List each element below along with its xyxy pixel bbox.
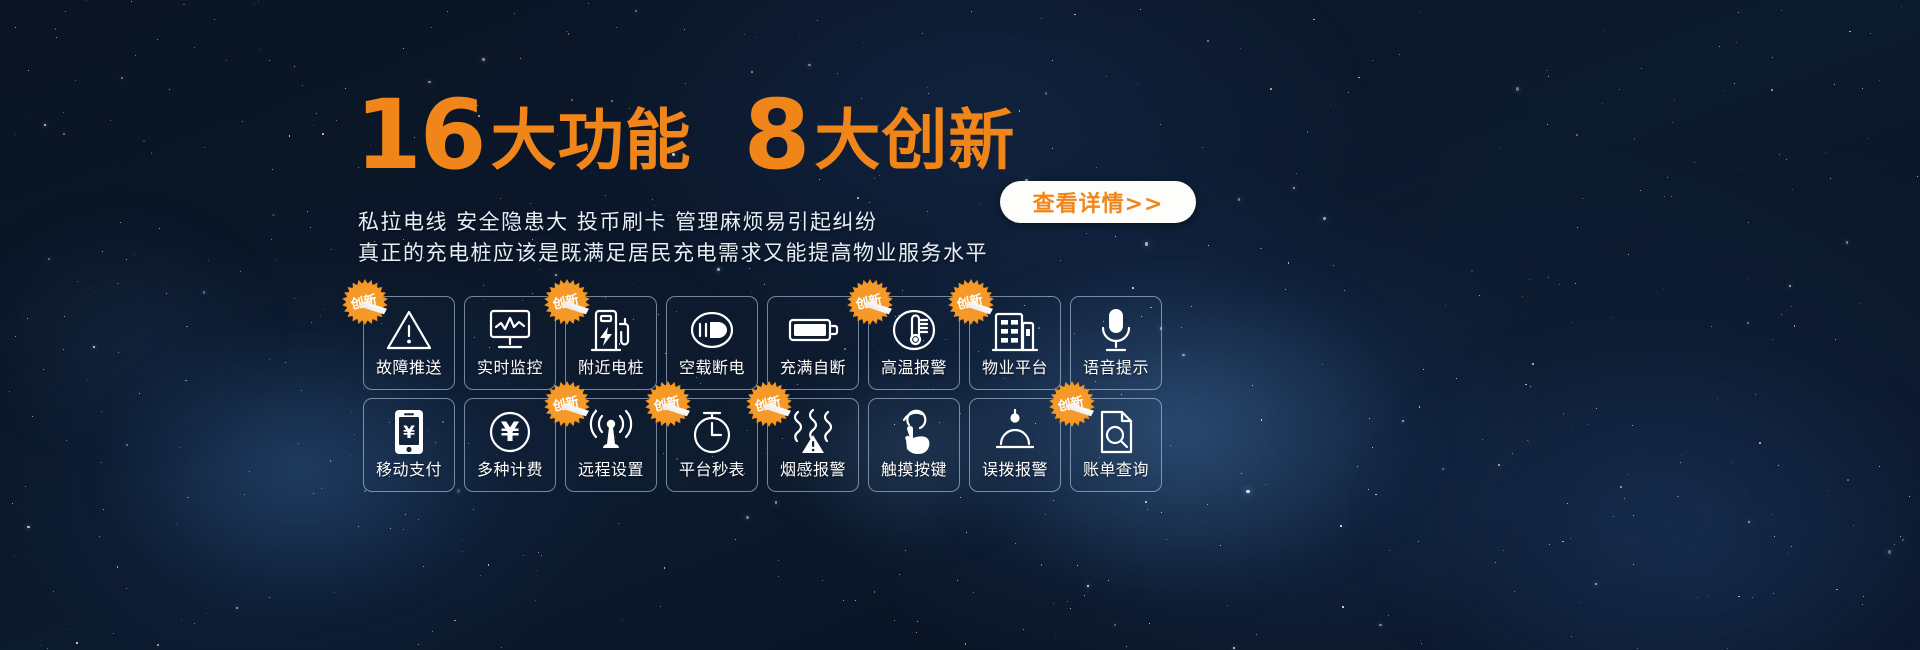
- feature-label: 多种计费: [477, 461, 543, 479]
- building-icon: [970, 301, 1060, 359]
- monitor-waveform-icon: [465, 301, 555, 359]
- feature-card-4[interactable]: 空载断电: [666, 296, 758, 390]
- subtitle-line-1: 私拉电线 安全隐患大 投币刷卡 管理麻烦易引起纠纷: [358, 207, 988, 238]
- feature-card-1[interactable]: 创新故障推送: [363, 296, 455, 390]
- plug-circle-icon: [667, 301, 757, 359]
- bill-search-icon: [1071, 403, 1161, 461]
- antenna-signal-icon: [566, 403, 656, 461]
- svg-text:¥: ¥: [403, 423, 415, 443]
- feature-card-10[interactable]: ¥多种计费: [464, 398, 556, 492]
- subtitle: 私拉电线 安全隐患大 投币刷卡 管理麻烦易引起纠纷 真正的充电桩应该是既满足居民…: [358, 207, 988, 269]
- feature-label: 移动支付: [376, 461, 442, 479]
- feature-label: 账单查询: [1083, 461, 1149, 479]
- feature-label: 语音提示: [1083, 359, 1149, 377]
- microphone-icon: [1071, 301, 1161, 359]
- headline-text-functions: 大功能: [491, 108, 692, 174]
- headline-number-functions: 16: [355, 92, 485, 178]
- feature-label: 附近电桩: [578, 359, 644, 377]
- feature-label: 实时监控: [477, 359, 543, 377]
- hero-banner: 16 大功能 8 大创新 私拉电线 安全隐患大 投币刷卡 管理麻烦易引起纠纷 真…: [0, 0, 1920, 650]
- battery-full-icon: [768, 301, 858, 359]
- warning-triangle-icon: [364, 301, 454, 359]
- charging-pile-icon: [566, 301, 656, 359]
- subtitle-line-2: 真正的充电桩应该是既满足居民充电需求又能提高物业服务水平: [358, 238, 988, 269]
- feature-card-8[interactable]: 语音提示: [1070, 296, 1162, 390]
- yen-circle-icon: ¥: [465, 403, 555, 461]
- feature-label: 触摸按键: [881, 461, 947, 479]
- feature-label: 空载断电: [679, 359, 745, 377]
- feature-card-3[interactable]: 创新附近电桩: [565, 296, 657, 390]
- svg-text:¥: ¥: [501, 417, 520, 448]
- feature-card-11[interactable]: 创新远程设置: [565, 398, 657, 492]
- headline: 16 大功能 8 大创新: [355, 92, 1015, 178]
- feature-card-16[interactable]: 创新账单查询: [1070, 398, 1162, 492]
- feature-card-12[interactable]: 创新平台秒表: [666, 398, 758, 492]
- feature-label: 高温报警: [881, 359, 947, 377]
- feature-label: 故障推送: [376, 359, 442, 377]
- headline-number-innovations: 8: [744, 92, 809, 178]
- feature-card-13[interactable]: 创新烟感报警: [767, 398, 859, 492]
- headline-text-innovations: 大创新: [814, 108, 1015, 174]
- stopwatch-icon: [667, 403, 757, 461]
- touch-hand-icon: [869, 403, 959, 461]
- phone-yen-icon: ¥: [364, 403, 454, 461]
- alarm-bell-icon: [970, 403, 1060, 461]
- feature-card-15[interactable]: 误拨报警: [969, 398, 1061, 492]
- feature-card-9[interactable]: ¥移动支付: [363, 398, 455, 492]
- feature-label: 充满自断: [780, 359, 846, 377]
- feature-card-6[interactable]: 创新高温报警: [868, 296, 960, 390]
- feature-label: 烟感报警: [780, 461, 846, 479]
- feature-label: 误拨报警: [982, 461, 1048, 479]
- feature-label: 物业平台: [982, 359, 1048, 377]
- thermometer-circle-icon: [869, 301, 959, 359]
- feature-grid: 创新故障推送实时监控创新附近电桩空载断电充满自断创新高温报警创新物业平台语音提示…: [363, 296, 1171, 492]
- smoke-alarm-icon: [768, 403, 858, 461]
- feature-card-2[interactable]: 实时监控: [464, 296, 556, 390]
- feature-label: 平台秒表: [679, 461, 745, 479]
- feature-label: 远程设置: [578, 461, 644, 479]
- feature-card-14[interactable]: 触摸按键: [868, 398, 960, 492]
- feature-card-7[interactable]: 创新物业平台: [969, 296, 1061, 390]
- view-details-button[interactable]: 查看详情>>: [1000, 181, 1196, 223]
- feature-card-5[interactable]: 充满自断: [767, 296, 859, 390]
